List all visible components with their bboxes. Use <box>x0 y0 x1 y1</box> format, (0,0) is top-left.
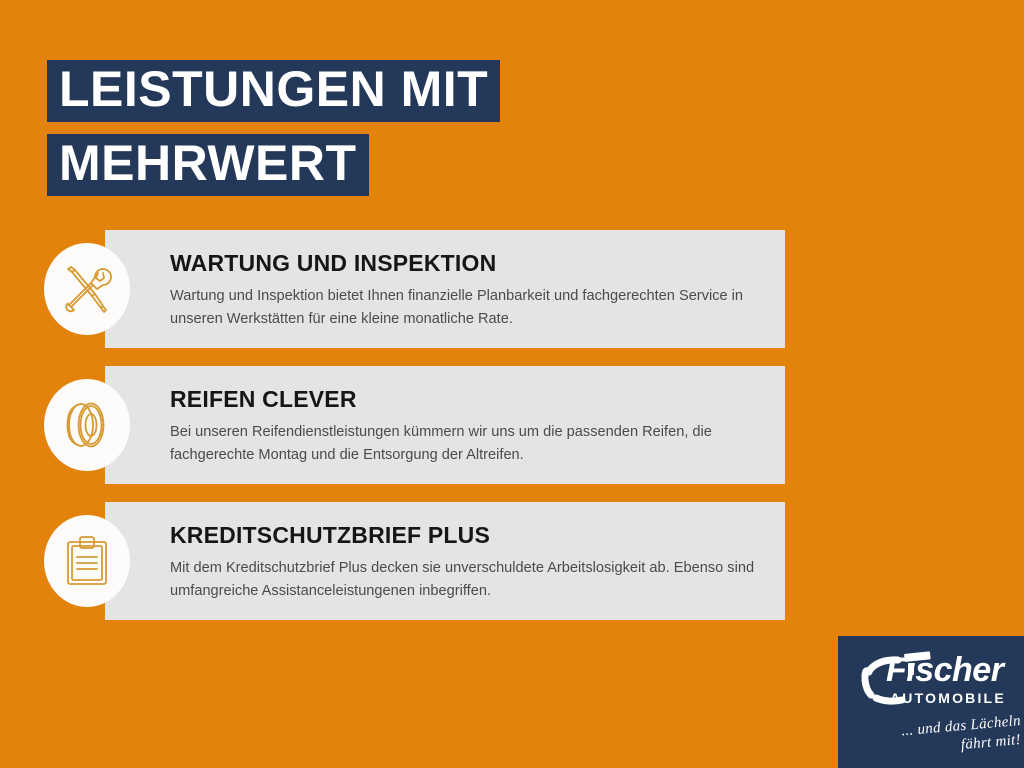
service-card[interactable]: KREDITSCHUTZBRIEF PLUS Mit dem Kreditsch… <box>105 502 785 620</box>
service-card-description: Bei unseren Reifendienstleistungen kümme… <box>170 421 761 467</box>
service-card-list: WARTUNG UND INSPEKTION Wartung und Inspe… <box>105 230 785 620</box>
brand-subtitle: AUTOMOBILE <box>890 690 1006 706</box>
brand-slogan: ... und das Lächeln fährt mit! <box>868 712 1020 760</box>
tire-icon <box>44 379 130 471</box>
service-card-description: Wartung und Inspektion bietet Ihnen fina… <box>170 285 761 331</box>
service-card-title: KREDITSCHUTZBRIEF PLUS <box>170 522 761 548</box>
page-title-line-1: LEISTUNGEN MIT <box>47 60 500 122</box>
brand-logo: Fischer AUTOMOBILE ... und das Lächeln f… <box>838 636 1024 768</box>
service-card[interactable]: REIFEN CLEVER Bei unseren Reifendienstle… <box>105 366 785 484</box>
service-card-title: WARTUNG UND INSPEKTION <box>170 250 761 276</box>
page-title-line-2: MEHRWERT <box>47 134 369 196</box>
clipboard-icon <box>44 515 130 607</box>
page-title: LEISTUNGEN MIT MEHRWERT <box>47 60 500 196</box>
service-card-description: Mit dem Kreditschutzbrief Plus decken si… <box>170 557 761 603</box>
wrench-screwdriver-icon <box>44 243 130 335</box>
service-card-title: REIFEN CLEVER <box>170 386 761 412</box>
brand-name: Fischer <box>886 652 1003 688</box>
service-card[interactable]: WARTUNG UND INSPEKTION Wartung und Inspe… <box>105 230 785 348</box>
slide-root: LEISTUNGEN MIT MEHRWERT <box>0 0 1024 768</box>
